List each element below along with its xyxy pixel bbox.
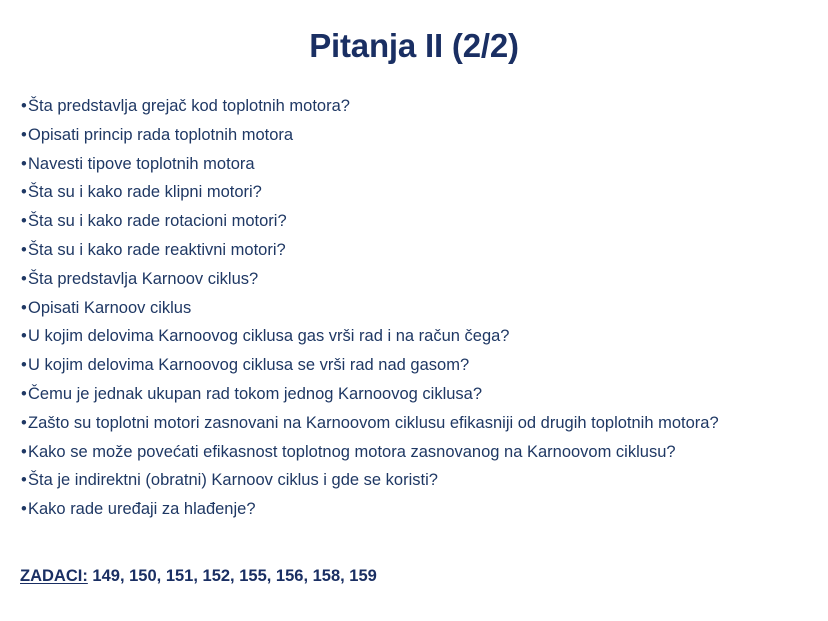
list-item: • Opisati Karnoov ciklus xyxy=(21,296,811,325)
slide-canvas: Pitanja II (2/2) • Šta predstavlja greja… xyxy=(0,0,828,621)
list-item: • Kako rade uređaji za hlađenje? xyxy=(21,497,811,526)
bullet-icon: • xyxy=(21,468,27,492)
tasks-values: 149, 150, 151, 152, 155, 156, 158, 159 xyxy=(92,567,376,585)
list-item-label: Zašto su toplotni motori zasnovani na Ka… xyxy=(28,411,719,435)
list-item: • Navesti tipove toplotnih motora xyxy=(21,152,811,181)
list-item: • Čemu je jednak ukupan rad tokom jednog… xyxy=(21,382,811,411)
tasks-line: ZADACI: 149, 150, 151, 152, 155, 156, 15… xyxy=(20,564,377,588)
list-item: • Šta predstavlja Karnoov ciklus? xyxy=(21,267,811,296)
bullet-icon: • xyxy=(21,411,27,435)
page-title: Pitanja II (2/2) xyxy=(0,26,828,66)
bullet-icon: • xyxy=(21,382,27,406)
list-item: • U kojim delovima Karnoovog ciklusa se … xyxy=(21,353,811,382)
bullet-icon: • xyxy=(21,497,27,521)
questions-list: • Šta predstavlja grejač kod toplotnih m… xyxy=(21,94,811,526)
list-item-label: Kako rade uređaji za hlađenje? xyxy=(28,497,256,521)
list-item-label: Kako se može povećati efikasnost toplotn… xyxy=(28,440,676,464)
list-item-label: U kojim delovima Karnoovog ciklusa gas v… xyxy=(28,324,509,348)
list-item: • U kojim delovima Karnoovog ciklusa gas… xyxy=(21,324,811,353)
bullet-icon: • xyxy=(21,209,27,233)
list-item-label: Šta predstavlja Karnoov ciklus? xyxy=(28,267,258,291)
tasks-label: ZADACI: xyxy=(20,567,88,585)
list-item-label: Šta su i kako rade rotacioni motori? xyxy=(28,209,287,233)
bullet-icon: • xyxy=(21,238,27,262)
list-item-label: Šta je indirektni (obratni) Karnoov cikl… xyxy=(28,468,438,492)
list-item-label: Šta su i kako rade klipni motori? xyxy=(28,180,262,204)
list-item: • Šta su i kako rade rotacioni motori? xyxy=(21,209,811,238)
bullet-icon: • xyxy=(21,123,27,147)
list-item: • Šta su i kako rade reaktivni motori? xyxy=(21,238,811,267)
list-item: • Šta su i kako rade klipni motori? xyxy=(21,180,811,209)
list-item: • Zašto su toplotni motori zasnovani na … xyxy=(21,411,811,440)
list-item-label: Čemu je jednak ukupan rad tokom jednog K… xyxy=(28,382,482,406)
list-item-label: Navesti tipove toplotnih motora xyxy=(28,152,255,176)
list-item: • Kako se može povećati efikasnost toplo… xyxy=(21,440,811,469)
bullet-icon: • xyxy=(21,152,27,176)
list-item: • Šta je indirektni (obratni) Karnoov ci… xyxy=(21,468,811,497)
bullet-icon: • xyxy=(21,440,27,464)
bullet-icon: • xyxy=(21,94,27,118)
list-item-label: U kojim delovima Karnoovog ciklusa se vr… xyxy=(28,353,469,377)
list-item: • Šta predstavlja grejač kod toplotnih m… xyxy=(21,94,811,123)
list-item-label: Šta predstavlja grejač kod toplotnih mot… xyxy=(28,94,350,118)
list-item-label: Šta su i kako rade reaktivni motori? xyxy=(28,238,286,262)
list-item-label: Opisati Karnoov ciklus xyxy=(28,296,191,320)
list-item: • Opisati princip rada toplotnih motora xyxy=(21,123,811,152)
bullet-icon: • xyxy=(21,267,27,291)
list-item-label: Opisati princip rada toplotnih motora xyxy=(28,123,293,147)
bullet-icon: • xyxy=(21,296,27,320)
bullet-icon: • xyxy=(21,324,27,348)
bullet-icon: • xyxy=(21,180,27,204)
bullet-icon: • xyxy=(21,353,27,377)
